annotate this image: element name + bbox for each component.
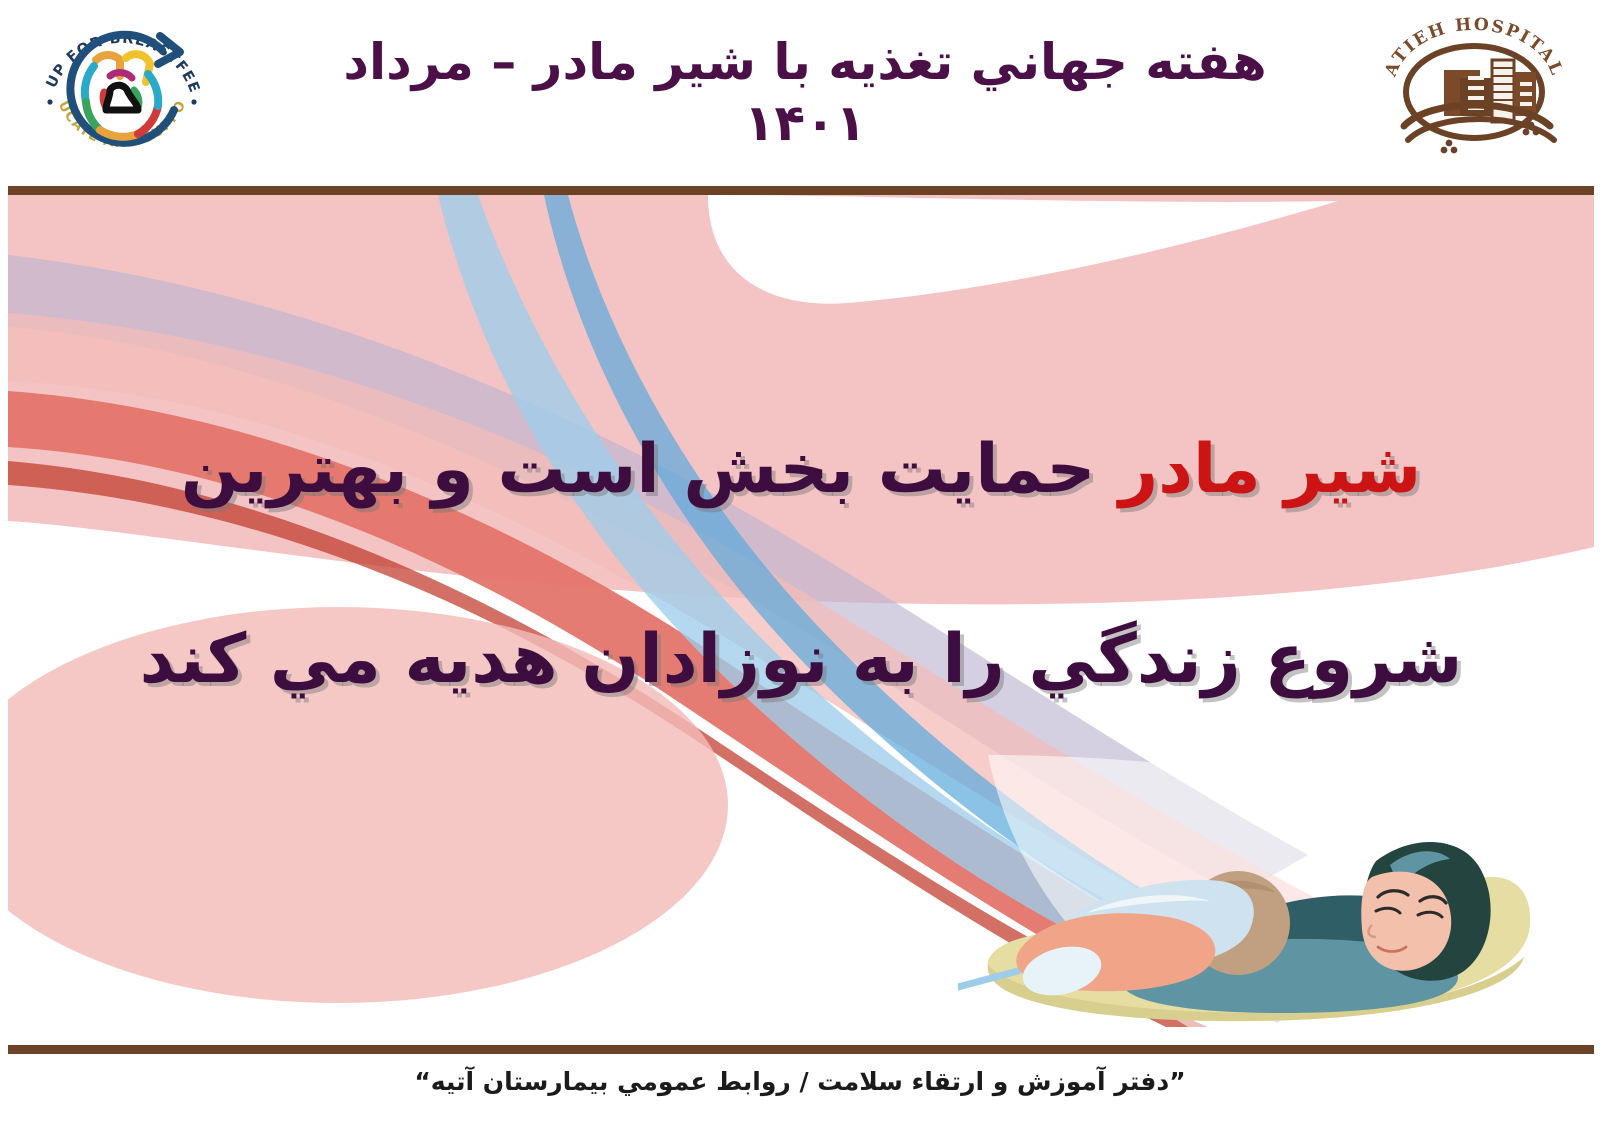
poster-artwork-area: شیر مادر حمایت بخش است و بهترین شروع زند… [8,195,1594,1027]
step-up-for-breastfeeding-logo: STEP UP FOR BREASTFEEDING EDUCATE AND SU… [34,6,210,166]
poster-footer: ”دفتر آموزش و ارتقاء سلامت / روابط عمومي… [0,1046,1600,1116]
atieh-hospital-logo: ATIEH HOSPITAL [1368,14,1578,164]
poster-root: STEP UP FOR BREASTFEEDING EDUCATE AND SU… [0,0,1600,1131]
mother-and-baby-illustration [958,765,1538,1027]
footer-credit: ”دفتر آموزش و ارتقاء سلامت / روابط عمومي… [414,1067,1185,1096]
poster-header: STEP UP FOR BREASTFEEDING EDUCATE AND SU… [0,0,1600,182]
page-title: هفته جهاني تغذيه با شير مادر – مرداد ۱۴۰… [300,30,1310,155]
poster-content-frame: شیر مادر حمایت بخش است و بهترین شروع زند… [8,186,1594,1054]
